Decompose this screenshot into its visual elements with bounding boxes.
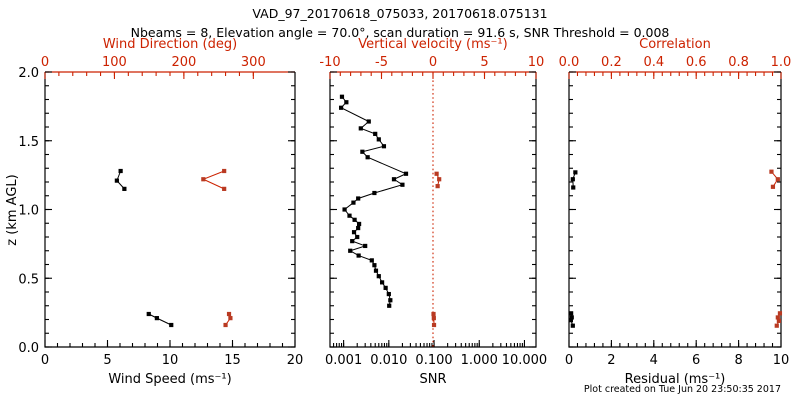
x-tick-label: 8 (734, 353, 742, 368)
data-point (571, 177, 575, 181)
data-point (370, 258, 374, 262)
x-top-tick-label: 0.0 (559, 55, 580, 70)
data-point (374, 269, 378, 273)
data-point (569, 318, 573, 322)
data-point (388, 298, 392, 302)
data-point (373, 132, 377, 136)
data-point (571, 324, 575, 328)
data-point (122, 187, 126, 191)
x-tick-label: 10 (162, 353, 179, 368)
data-point (436, 184, 440, 188)
x-top-tick-label: 0 (41, 55, 49, 70)
x-tick-label: 0.010 (370, 353, 407, 368)
y-tick-label: 0.5 (18, 272, 39, 287)
data-point (363, 244, 367, 248)
data-point (339, 106, 343, 110)
x-top-axis-label: Correlation (639, 37, 711, 52)
data-point (340, 95, 344, 99)
data-point (431, 312, 435, 316)
x-top-tick-label: 300 (241, 55, 266, 70)
data-point (356, 226, 360, 230)
x-tick-label: 6 (692, 353, 700, 368)
data-point (119, 169, 123, 173)
data-point (776, 177, 780, 181)
x-top-tick-label: 0.4 (643, 55, 664, 70)
data-point (352, 230, 356, 234)
data-point (228, 316, 232, 320)
y-tick-label: 1.0 (18, 204, 39, 219)
x-top-tick-label: 0 (429, 55, 437, 70)
data-point (348, 249, 352, 253)
x-top-tick-label: 0.6 (686, 55, 707, 70)
x-top-tick-label: 5 (480, 55, 488, 70)
x-tick-label: 0 (565, 353, 573, 368)
data-point (387, 292, 391, 296)
y-tick-label: 0.0 (18, 341, 39, 356)
x-tick-label: 10.000 (502, 353, 548, 368)
data-point (387, 304, 391, 308)
x-top-tick-label: 100 (102, 55, 127, 70)
x-tick-label: 20 (287, 353, 304, 368)
data-point (169, 323, 173, 327)
x-tick-label: 0 (41, 353, 49, 368)
data-point (222, 169, 226, 173)
data-point (357, 222, 361, 226)
data-point (223, 323, 227, 327)
data-point (404, 172, 408, 176)
data-point (573, 170, 577, 174)
x-top-axis-label: Wind Direction (deg) (103, 37, 237, 52)
data-point (382, 144, 386, 148)
vad-profile-figure: VAD_97_20170618_075033, 20170618.075131 … (0, 0, 800, 400)
x-top-tick-label: 200 (171, 55, 196, 70)
data-point (359, 126, 363, 130)
data-point (400, 183, 404, 187)
data-point (357, 253, 361, 257)
data-point (366, 155, 370, 159)
data-point (432, 323, 436, 327)
data-point (356, 196, 360, 200)
data-point (115, 179, 119, 183)
data-point (352, 218, 356, 222)
x-axis-label: SNR (419, 372, 446, 387)
data-point (435, 172, 439, 176)
data-point (392, 177, 396, 181)
data-point (380, 280, 384, 284)
x-top-tick-label: 0.2 (601, 55, 622, 70)
data-point (778, 311, 782, 315)
data-point (569, 311, 573, 315)
data-point (771, 185, 775, 189)
figure-title: VAD_97_20170618_075033, 20170618.075131 (252, 6, 547, 21)
x-top-tick-label: 0.8 (728, 55, 749, 70)
x-top-tick-label: -5 (375, 55, 388, 70)
data-point (360, 150, 364, 154)
y-tick-label: 1.5 (18, 135, 39, 150)
x-tick-label: 1.000 (461, 353, 498, 368)
data-point (571, 185, 575, 189)
x-tick-label: 2 (607, 353, 615, 368)
data-point (377, 274, 381, 278)
data-point (372, 191, 376, 195)
x-top-tick-label: 10 (528, 55, 545, 70)
data-point (147, 312, 151, 316)
data-point (222, 187, 226, 191)
data-point (351, 201, 355, 205)
data-point (367, 119, 371, 123)
data-point (372, 263, 376, 267)
data-point (201, 177, 205, 181)
plot-root: VAD_97_20170618_075033, 20170618.075131 … (0, 0, 800, 400)
x-tick-label: 10 (773, 353, 790, 368)
data-point (355, 235, 359, 239)
x-tick-label: 4 (650, 353, 658, 368)
x-top-tick-label: 1.0 (771, 55, 792, 70)
data-point (777, 319, 781, 323)
data-point (769, 170, 773, 174)
data-point (155, 316, 159, 320)
x-tick-label: 5 (103, 353, 111, 368)
data-point (437, 177, 441, 181)
data-point (775, 324, 779, 328)
x-tick-label: 15 (224, 353, 241, 368)
data-point (347, 214, 351, 218)
data-point (350, 239, 354, 243)
x-axis-label: Residual (ms⁻¹) (625, 372, 726, 387)
data-point (342, 207, 346, 211)
x-top-tick-label: -10 (319, 55, 340, 70)
data-point (227, 312, 231, 316)
data-point (384, 286, 388, 290)
data-point (377, 137, 381, 141)
x-tick-label: 0.100 (415, 353, 452, 368)
x-axis-label: Wind Speed (ms⁻¹) (108, 372, 231, 387)
x-top-axis-label: Vertical velocity (ms⁻¹) (358, 37, 507, 52)
x-tick-label: 0.001 (325, 353, 362, 368)
data-point (344, 100, 348, 104)
y-tick-label: 2.0 (18, 66, 39, 81)
data-point (432, 316, 436, 320)
